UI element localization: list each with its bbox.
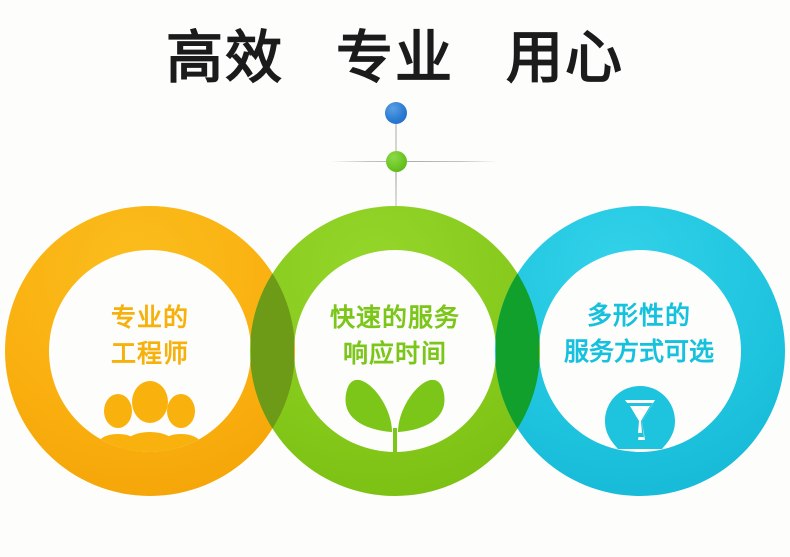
- caption-line: 服务方式可选: [524, 334, 754, 370]
- rings-svg: [0, 0, 790, 557]
- poster-canvas: 高效专业用心: [0, 0, 790, 557]
- caption-line: 多形性的: [524, 298, 754, 334]
- caption-line: 响应时间: [280, 336, 510, 372]
- caption-line: 快速的服务: [280, 300, 510, 336]
- caption-line: 专业的: [35, 300, 265, 336]
- circle-caption-response: 快速的服务 响应时间: [280, 300, 510, 373]
- circle-caption-engineers: 专业的 工程师: [35, 300, 265, 373]
- circle-caption-service-modes: 多形性的 服务方式可选: [524, 298, 754, 371]
- caption-line: 工程师: [35, 336, 265, 372]
- venn-rings-group: [0, 0, 790, 557]
